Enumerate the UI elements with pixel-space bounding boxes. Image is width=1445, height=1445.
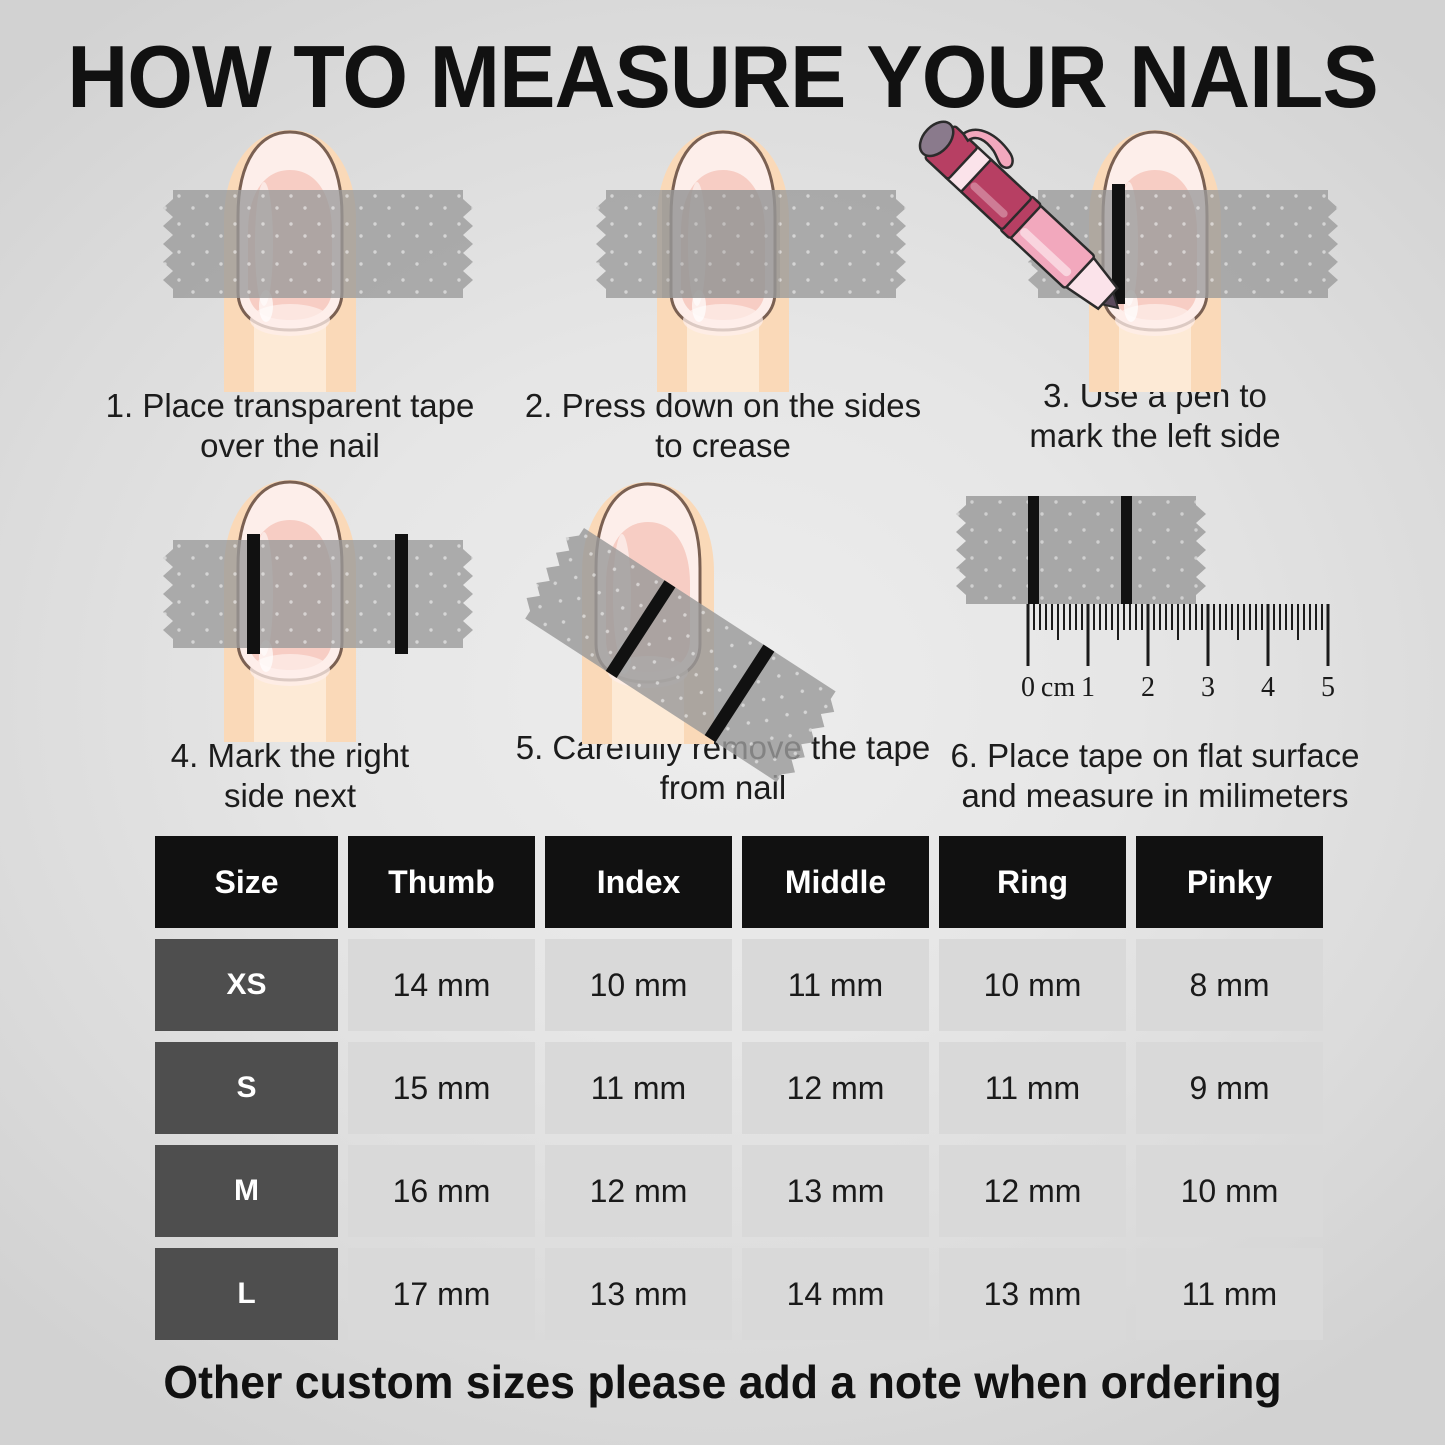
size-chart-table: Size Thumb Index Middle Ring Pinky XS 14… [155, 836, 1323, 1351]
step-3: 3. Use a pen to mark the left side [940, 118, 1370, 457]
table-row: M 16 mm 12 mm 13 mm 12 mm 10 mm [155, 1145, 1323, 1237]
table-header-index: Index [545, 836, 732, 928]
step-6-illustration: 0 cm 1 2 3 4 5 [940, 478, 1370, 728]
tape-strip-flat [956, 496, 1206, 604]
step-1-caption-line1: 1. Place transparent tape [75, 386, 505, 426]
ruler-unit-label: cm [1041, 672, 1075, 703]
step-4-caption-line2: side next [75, 776, 505, 816]
step-2-caption: 2. Press down on the sides to crease [508, 386, 938, 467]
table-cell-size: L [155, 1248, 338, 1340]
table-cell-size: M [155, 1145, 338, 1237]
tape-strip [163, 190, 473, 298]
step-6-caption-line1: 6. Place tape on flat surface [940, 736, 1370, 776]
step-4-illustration [75, 478, 505, 728]
step-2-caption-line2: to crease [508, 426, 938, 466]
table-header-middle: Middle [742, 836, 929, 928]
ruler-tick-5: 5 [1321, 672, 1335, 703]
table-cell-middle: 13 mm [742, 1145, 929, 1237]
step-2: 2. Press down on the sides to crease [508, 128, 938, 467]
step-1: 1. Place transparent tape over the nail [75, 128, 505, 467]
table-cell-thumb: 16 mm [348, 1145, 535, 1237]
step-5: 5. Carefully remove the tape from nail [508, 470, 938, 809]
table-cell-index: 11 mm [545, 1042, 732, 1134]
table-cell-ring: 10 mm [939, 939, 1126, 1031]
table-cell-index: 10 mm [545, 939, 732, 1031]
table-cell-middle: 11 mm [742, 939, 929, 1031]
step-1-illustration [75, 128, 505, 378]
table-cell-thumb: 14 mm [348, 939, 535, 1031]
step-5-caption-line2: from nail [508, 768, 938, 808]
step-1-caption-line2: over the nail [75, 426, 505, 466]
table-header-pinky: Pinky [1136, 836, 1323, 928]
table-row: L 17 mm 13 mm 14 mm 13 mm 11 mm [155, 1248, 1323, 1340]
table-cell-size: S [155, 1042, 338, 1134]
table-cell-ring: 13 mm [939, 1248, 1126, 1340]
step-4-caption-line1: 4. Mark the right [75, 736, 505, 776]
ruler-icon: 0 cm 1 2 3 4 5 [1021, 604, 1335, 703]
right-mark [395, 534, 408, 654]
table-cell-ring: 11 mm [939, 1042, 1126, 1134]
table-header-row: Size Thumb Index Middle Ring Pinky [155, 836, 1323, 928]
ruler-tick-4: 4 [1261, 672, 1275, 703]
table-cell-thumb: 17 mm [348, 1248, 535, 1340]
table-header-thumb: Thumb [348, 836, 535, 928]
table-cell-index: 13 mm [545, 1248, 732, 1340]
table-row: XS 14 mm 10 mm 11 mm 10 mm 8 mm [155, 939, 1323, 1031]
step-1-caption: 1. Place transparent tape over the nail [75, 386, 505, 467]
left-mark [247, 534, 260, 654]
table-cell-pinky: 8 mm [1136, 939, 1323, 1031]
right-mark [1121, 496, 1132, 604]
ruler-tick-0: 0 [1021, 672, 1035, 703]
infographic-page: HOW TO MEASURE YOUR NAILS [0, 0, 1445, 1445]
step-4: 4. Mark the right side next [75, 478, 505, 817]
table-cell-pinky: 11 mm [1136, 1248, 1323, 1340]
footer-note: Other custom sizes please add a note whe… [22, 1355, 1424, 1409]
step-6-caption-line2: and measure in milimeters [940, 776, 1370, 816]
step-6-caption: 6. Place tape on flat surface and measur… [940, 736, 1370, 817]
table-cell-pinky: 9 mm [1136, 1042, 1323, 1134]
step-3-caption-line2: mark the left side [940, 416, 1370, 456]
table-row: S 15 mm 11 mm 12 mm 11 mm 9 mm [155, 1042, 1323, 1134]
table-header-size: Size [155, 836, 338, 928]
step-2-illustration [508, 128, 938, 378]
page-title: HOW TO MEASURE YOUR NAILS [29, 26, 1416, 128]
table-cell-ring: 12 mm [939, 1145, 1126, 1237]
table-cell-index: 12 mm [545, 1145, 732, 1237]
tape-strip-creased [596, 190, 906, 298]
ruler-tick-2: 2 [1141, 672, 1155, 703]
step-6: 0 cm 1 2 3 4 5 6. Place tape on flat sur… [940, 478, 1370, 817]
step-4-caption: 4. Mark the right side next [75, 736, 505, 817]
table-cell-size: XS [155, 939, 338, 1031]
table-cell-middle: 14 mm [742, 1248, 929, 1340]
ruler-tick-3: 3 [1201, 672, 1215, 703]
table-cell-pinky: 10 mm [1136, 1145, 1323, 1237]
left-mark [1028, 496, 1039, 604]
step-3-illustration [940, 118, 1370, 368]
table-header-ring: Ring [939, 836, 1126, 928]
table-cell-middle: 12 mm [742, 1042, 929, 1134]
table-cell-thumb: 15 mm [348, 1042, 535, 1134]
step-2-caption-line1: 2. Press down on the sides [508, 386, 938, 426]
ruler-tick-1: 1 [1081, 672, 1095, 703]
tape-strip [163, 540, 473, 648]
step-5-illustration [508, 470, 938, 720]
